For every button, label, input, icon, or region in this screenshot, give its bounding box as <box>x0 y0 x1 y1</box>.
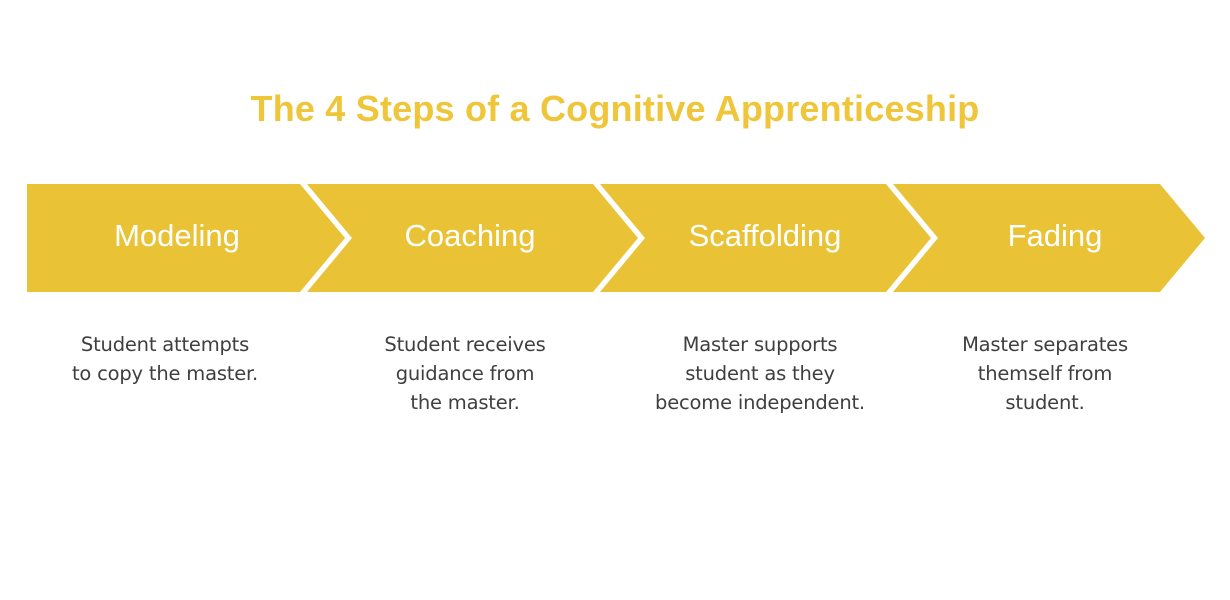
step-caption-3: Master supports student as they become i… <box>615 330 905 417</box>
caption-line: student as they <box>615 359 905 388</box>
chevron-step-4[interactable] <box>893 184 1205 292</box>
caption-line: Master supports <box>615 330 905 359</box>
chevron-shapes <box>0 180 1230 298</box>
caption-row: Student attempts to copy the master. Stu… <box>0 330 1230 450</box>
chevron-step-2[interactable] <box>307 184 638 292</box>
caption-line: themself from <box>900 359 1190 388</box>
chevron-step-3[interactable] <box>600 184 931 292</box>
caption-line: the master. <box>320 388 610 417</box>
chevron-step-1[interactable] <box>27 184 345 292</box>
caption-line: student. <box>900 388 1190 417</box>
slide-canvas: The 4 Steps of a Cognitive Apprenticeshi… <box>0 0 1230 600</box>
step-caption-2: Student receives guidance from the maste… <box>320 330 610 417</box>
process-chevron-band: Modeling Coaching Scaffolding Fading <box>0 180 1230 298</box>
caption-line: to copy the master. <box>20 359 310 388</box>
step-caption-4: Master separates themself from student. <box>900 330 1190 417</box>
page-title: The 4 Steps of a Cognitive Apprenticeshi… <box>0 86 1230 132</box>
caption-line: become independent. <box>615 388 905 417</box>
caption-line: guidance from <box>320 359 610 388</box>
caption-line: Student attempts <box>20 330 310 359</box>
caption-line: Master separates <box>900 330 1190 359</box>
caption-line: Student receives <box>320 330 610 359</box>
step-caption-1: Student attempts to copy the master. <box>20 330 310 388</box>
